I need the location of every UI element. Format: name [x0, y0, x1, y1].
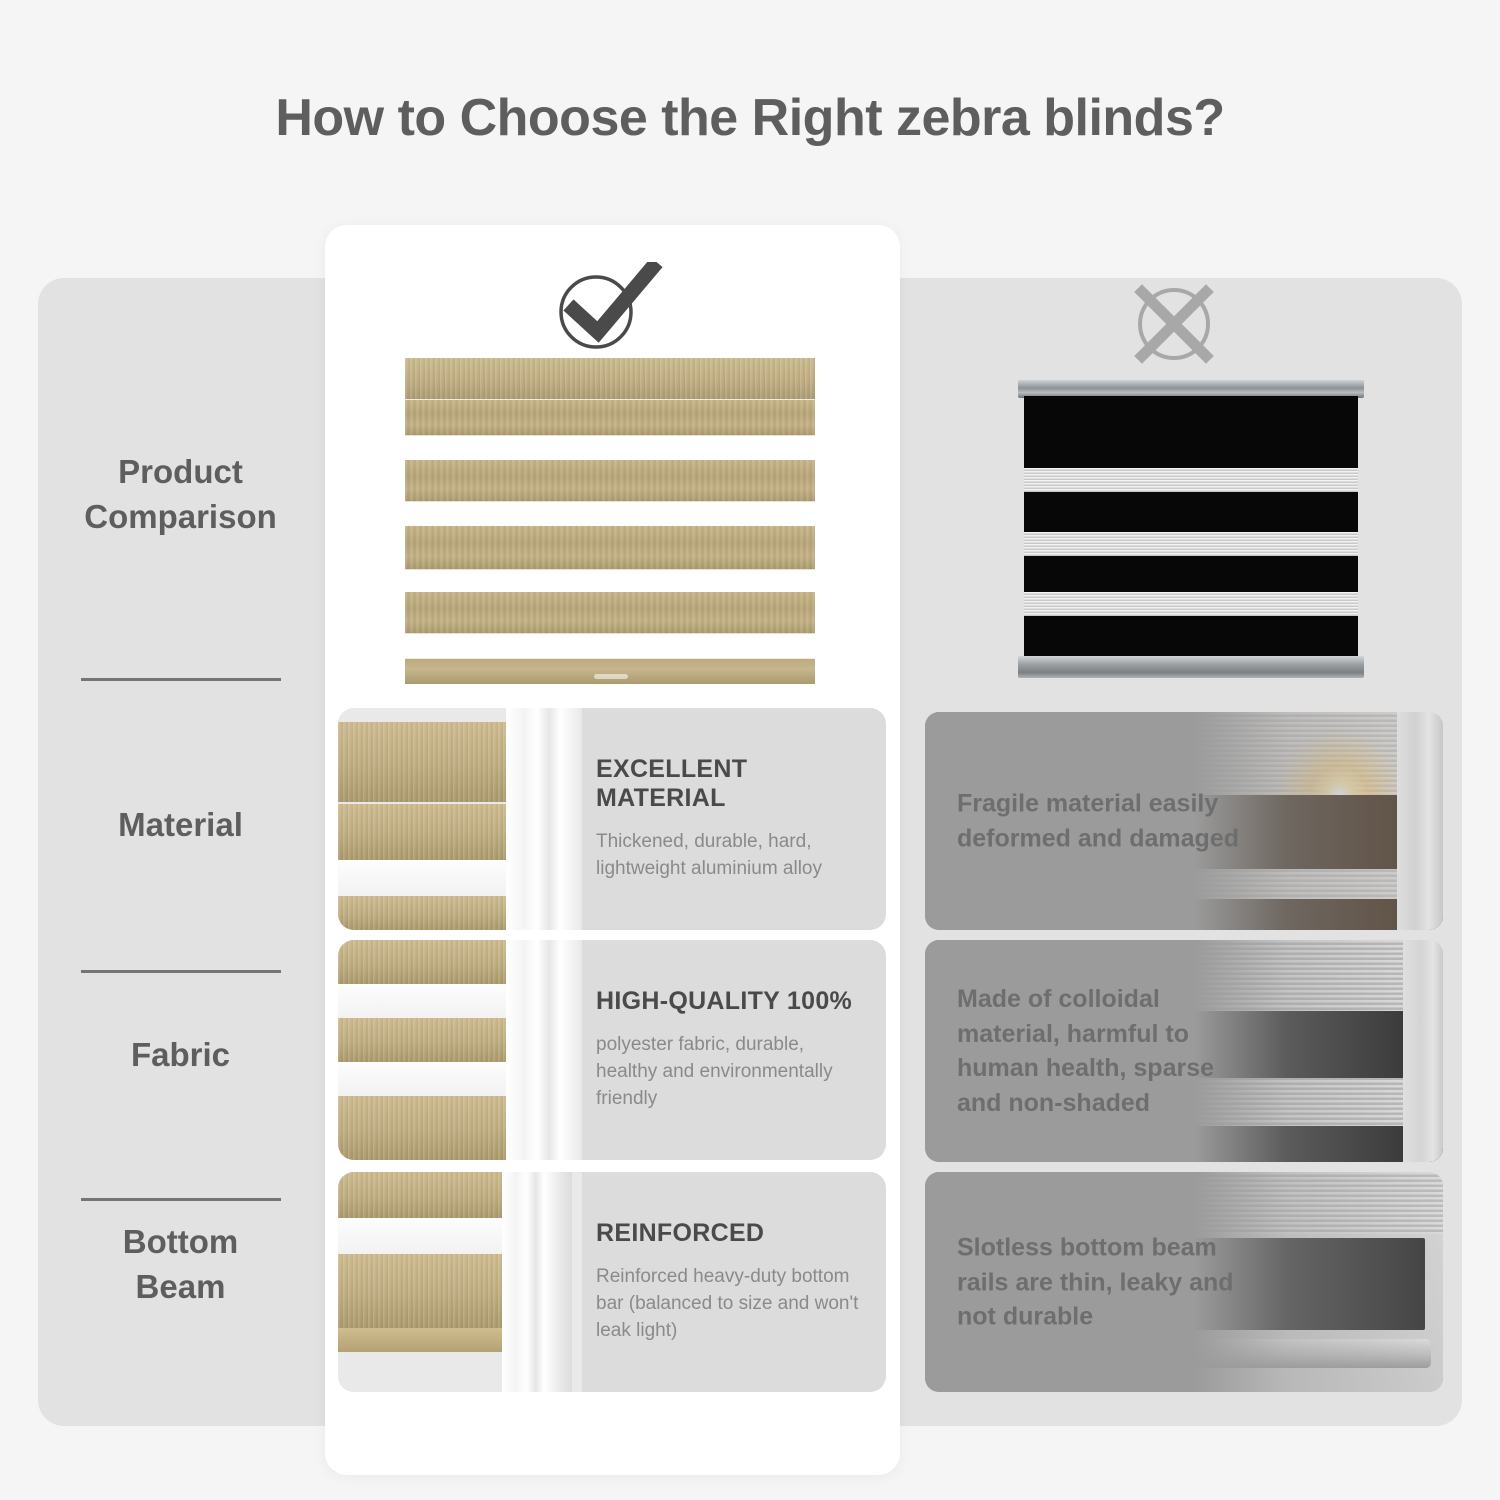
row-label-line-2: Beam — [38, 1265, 323, 1310]
feature-card-material: EXCELLENT MATERIAL Thickened, durable, h… — [338, 708, 886, 930]
feature-heading: EXCELLENT MATERIAL — [596, 755, 868, 813]
row-label-fabric: Fabric — [38, 1033, 323, 1078]
row-divider-3 — [81, 1198, 281, 1201]
black-zebra-blind-product-image — [1018, 380, 1364, 678]
bad-text: Made of colloidal material, harmful to h… — [957, 982, 1247, 1120]
bad-text: Fragile material easily deformed and dam… — [957, 787, 1247, 856]
blind-slat — [405, 460, 815, 502]
check-circle-icon — [548, 262, 668, 354]
feature-description: Reinforced heavy-duty bottom bar (balanc… — [596, 1264, 868, 1345]
row-divider-2 — [81, 970, 281, 973]
bad-text: Slotless bottom beam rails are thin, lea… — [957, 1230, 1247, 1334]
row-label-material: Material — [38, 803, 323, 848]
blind-slat — [405, 400, 815, 436]
bad-card-material: Fragile material easily deformed and dam… — [925, 712, 1443, 930]
bad-card-bottom-beam: Slotless bottom beam rails are thin, lea… — [925, 1172, 1443, 1392]
beige-blind-fabric-closeup-image — [338, 940, 582, 1160]
feature-card-fabric: HIGH-QUALITY 100% polyester fabric, dura… — [338, 940, 886, 1160]
row-label-line-1: Bottom — [38, 1220, 323, 1265]
row-divider-1 — [81, 678, 281, 681]
sheer-band — [1024, 592, 1358, 616]
beige-zebra-blind-product-image — [405, 358, 815, 698]
blind-headrail — [405, 358, 815, 400]
feature-text-block: EXCELLENT MATERIAL Thickened, durable, h… — [596, 755, 868, 883]
feature-description: polyester fabric, durable, healthy and e… — [596, 1032, 868, 1113]
row-label-line-2: Comparison — [38, 495, 323, 540]
window-frame — [506, 940, 582, 1160]
row-label-bottom-beam: Bottom Beam — [38, 1220, 323, 1309]
blind-fabric — [1024, 396, 1358, 658]
sheer-band — [1024, 532, 1358, 556]
page-title: How to Choose the Right zebra blinds? — [0, 88, 1500, 148]
feature-card-bottom-beam: REINFORCED Reinforced heavy-duty bottom … — [338, 1172, 886, 1392]
beige-blind-window-closeup-image — [338, 708, 582, 930]
blind-slat — [405, 592, 815, 634]
blind-slat — [405, 526, 815, 570]
window-frame — [506, 708, 582, 930]
infographic-root: How to Choose the Right zebra blinds? Pr… — [0, 0, 1500, 1500]
blind-bottom-bar — [405, 658, 815, 684]
feature-heading: HIGH-QUALITY 100% — [596, 987, 868, 1016]
row-label-product-comparison: Product Comparison — [38, 450, 323, 539]
feature-description: Thickened, durable, hard, lightweight al… — [596, 829, 868, 883]
row-label-line-1: Product — [38, 450, 323, 495]
window-frame — [502, 1172, 572, 1392]
bad-card-fabric: Made of colloidal material, harmful to h… — [925, 940, 1443, 1162]
feature-text-block: HIGH-QUALITY 100% polyester fabric, dura… — [596, 987, 868, 1113]
x-circle-icon — [1124, 278, 1224, 370]
reinforced-bottom-bar-closeup-image — [338, 1172, 582, 1392]
row-label-column: Product Comparison Material Fabric Botto… — [38, 278, 323, 1426]
feature-heading: REINFORCED — [596, 1219, 868, 1248]
feature-text-block: REINFORCED Reinforced heavy-duty bottom … — [596, 1219, 868, 1345]
blind-bottom-rail — [1018, 656, 1364, 678]
sheer-band — [1024, 468, 1358, 492]
